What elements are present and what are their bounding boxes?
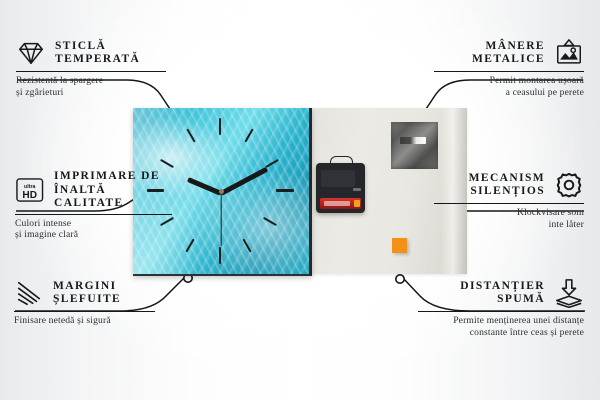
feature-tempered-glass: STICLĂ TEMPERATĂ Rezistentă la spargere …: [16, 38, 166, 98]
battery-terminal: [354, 200, 360, 207]
diamond-icon: [16, 38, 46, 68]
gear-icon: [554, 170, 584, 200]
feature-subtitle: Finisare netedă și sigură: [14, 315, 155, 326]
product-image: [133, 108, 467, 274]
battery-label: [324, 201, 350, 206]
connector-dot-6: [396, 275, 404, 283]
hour-marker-4: [263, 217, 277, 226]
feature-rule: [15, 214, 172, 215]
feature-rule: [14, 311, 155, 312]
second-hand: [220, 192, 221, 246]
hour-marker-6: [219, 247, 221, 264]
feature-subtitle: Culori intense și imagine clară: [15, 218, 172, 241]
hour-marker-3: [276, 189, 294, 192]
hour-marker-1: [244, 129, 253, 143]
feature-subtitle: Permite menținerea unei distanțe constan…: [418, 315, 584, 338]
battery: [320, 198, 361, 209]
feature-rule: [418, 311, 584, 312]
infographic-canvas: STICLĂ TEMPERATĂ Rezistentă la spargere …: [0, 0, 600, 400]
clock-mechanism: [316, 163, 365, 213]
feature-title: MÂNERE METALICE: [472, 40, 545, 67]
feature-rule: [434, 71, 584, 72]
foam-spacer: [392, 238, 407, 253]
feature-subtitle: Rezistentă la spargere și zgârieturi: [16, 75, 166, 98]
foam-spacer-icon: [554, 278, 584, 308]
ultra-hd-badge-icon: ultra HD: [15, 175, 45, 205]
feature-title: IMPRIMARE DE ÎNALTĂ CALITATE: [54, 170, 172, 211]
feature-subtitle: Permit montarea ușoară a ceasului pe per…: [434, 75, 584, 98]
center-pin: [219, 189, 224, 194]
hour-marker-12: [219, 118, 221, 135]
feature-high-quality-print: ultra HD IMPRIMARE DE ÎNALTĂ CALITATE Cu…: [15, 170, 172, 241]
mechanism-body: [321, 170, 355, 187]
feature-metal-handles: MÂNERE METALICE Permit montarea ușoară a…: [434, 38, 584, 98]
feature-rule: [16, 71, 166, 72]
polished-edge-icon: [14, 278, 44, 308]
feature-title: MECANISM SILENȚIOS: [469, 172, 545, 199]
feature-foam-spacer: DISTANȚIER SPUMĂ Permite menținerea unei…: [418, 278, 584, 338]
feature-subtitle: Klockvisare som inte låter: [434, 207, 584, 230]
mechanism-hanger-loop: [330, 156, 353, 166]
metal-hanger-plate: [391, 122, 438, 169]
feature-rule: [434, 203, 584, 204]
feature-title: STICLĂ TEMPERATĂ: [55, 40, 140, 67]
hanging-frame-icon: [554, 38, 584, 68]
hanger-slot: [400, 137, 426, 144]
feature-silent-mechanism: MECANISM SILENȚIOS Klockvisare som inte …: [434, 170, 584, 230]
feature-polished-edges: MARGINI ȘLEFUITE Finisare netedă și sigu…: [14, 278, 155, 327]
feature-title: DISTANȚIER SPUMĂ: [460, 280, 545, 307]
mechanism-label: [353, 188, 361, 191]
feature-title: MARGINI ȘLEFUITE: [53, 280, 121, 307]
svg-text:HD: HD: [22, 190, 37, 201]
hour-marker-2: [265, 159, 279, 168]
